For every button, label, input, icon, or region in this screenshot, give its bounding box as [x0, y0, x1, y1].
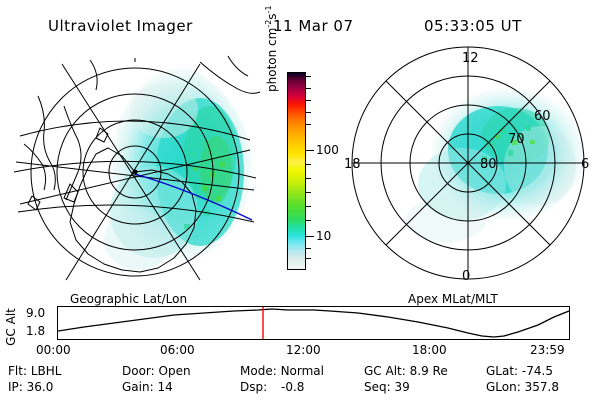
- status-gcalt-label: GC Alt:: [364, 364, 406, 378]
- altitude-timeseries-plot[interactable]: [57, 306, 570, 340]
- mlat-label-80: 80: [480, 157, 497, 172]
- status-door: Door: Open: [122, 364, 191, 378]
- header-bar: Ultraviolet Imager 11 Mar 07 05:33:05 UT: [0, 8, 600, 32]
- status-glon: GLon: 357.8: [486, 380, 559, 394]
- status-gain-value: 14: [157, 380, 172, 394]
- geographic-map-panel[interactable]: [4, 44, 266, 292]
- mlt-label-12: 12: [462, 51, 479, 66]
- altitude-max-value: 9.0: [26, 306, 45, 320]
- status-ip: IP: 36.0: [8, 380, 53, 394]
- status-glat-label: GLat:: [486, 364, 518, 378]
- magnetic-polar-panel[interactable]: 12 18 6 0 60 70 80: [340, 44, 598, 292]
- status-dsp: Dsp: -0.8: [240, 380, 304, 394]
- status-dsp-value: -0.8: [281, 380, 304, 394]
- status-glat: GLat: -74.5: [486, 364, 553, 378]
- status-gcalt: GC Alt: 8.9 Re: [364, 364, 448, 378]
- magnetic-caption: Apex MLat/MLT: [408, 292, 498, 306]
- status-gain: Gain: 14: [122, 380, 173, 394]
- altitude-min-value: 1.8: [26, 324, 45, 338]
- altitude-trace: [58, 309, 569, 337]
- status-ip-label: IP:: [8, 380, 23, 394]
- time-tick-1200: 12:00: [286, 343, 321, 357]
- time-tick-2359: 23:59: [530, 343, 565, 357]
- aurora-emission-geographic: [104, 68, 252, 270]
- status-seq-label: Seq:: [364, 380, 391, 394]
- colorbar-legend[interactable]: photon cm-2s-1 100 10: [268, 62, 338, 284]
- colorbar-tick-label-10: 10: [316, 230, 331, 242]
- time-tick-1800: 18:00: [412, 343, 447, 357]
- mlt-label-0: 0: [462, 269, 470, 284]
- mlt-label-18: 18: [344, 157, 361, 172]
- status-glat-value: -74.5: [522, 364, 553, 378]
- south-pole-marker: [132, 169, 137, 174]
- instrument-title: Ultraviolet Imager: [48, 17, 193, 35]
- time-tick-0000: 00:00: [36, 343, 71, 357]
- mlt-label-6: 6: [581, 157, 589, 172]
- colorbar-axis-title: photon cm-2s-1: [264, 0, 279, 92]
- status-seq: Seq: 39: [364, 380, 410, 394]
- mlat-mlt-grid: [352, 47, 584, 279]
- status-mode-label: Mode:: [240, 364, 277, 378]
- status-dsp-label: Dsp:: [240, 380, 267, 394]
- status-door-label: Door:: [122, 364, 155, 378]
- mlat-label-60: 60: [534, 109, 551, 124]
- status-mode: Mode: Normal: [240, 364, 324, 378]
- time-tick-0600: 06:00: [160, 343, 195, 357]
- colorbar-tick-10: [305, 236, 314, 237]
- altitude-axis-label: GC Alt: [4, 302, 20, 344]
- colorbar-tick-label-100: 100: [316, 144, 339, 156]
- colorbar-gradient: [287, 72, 306, 270]
- colorbar-tick-100: [305, 150, 314, 151]
- status-ip-value: 36.0: [27, 380, 54, 394]
- observation-date: 11 Mar 07: [273, 17, 354, 35]
- status-mode-value: Normal: [281, 364, 324, 378]
- status-seq-value: 39: [395, 380, 410, 394]
- geographic-caption: Geographic Lat/Lon: [70, 292, 187, 306]
- mlat-label-70: 70: [508, 132, 525, 147]
- status-filter: Flt: LBHL: [8, 364, 61, 378]
- status-gain-label: Gain:: [122, 380, 154, 394]
- status-glon-value: 357.8: [525, 380, 559, 394]
- status-door-value: Open: [159, 364, 191, 378]
- observation-time: 05:33:05 UT: [424, 17, 522, 35]
- status-glon-label: GLon:: [486, 380, 521, 394]
- status-filter-label: Flt:: [8, 364, 27, 378]
- status-gcalt-value: 8.9 Re: [410, 364, 448, 378]
- status-filter-value: LBHL: [31, 364, 62, 378]
